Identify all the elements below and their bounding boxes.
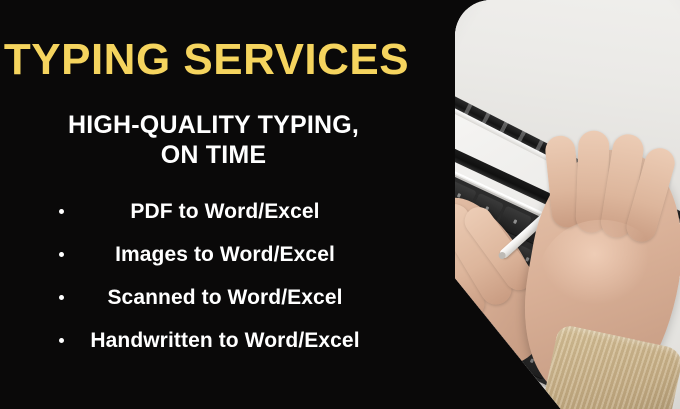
text-panel: TYPING SERVICES HIGH-QUALITY TYPING, ON … — [0, 0, 455, 409]
bullet-dot-icon — [59, 295, 64, 300]
service-label: Scanned to Word/Excel — [0, 276, 450, 319]
laptop-typing-photo — [455, 0, 680, 409]
list-item: Images to Word/Excel — [0, 233, 455, 276]
list-item: PDF to Word/Excel — [0, 190, 455, 233]
typing-services-banner: TYPING SERVICES HIGH-QUALITY TYPING, ON … — [0, 0, 680, 409]
list-item: Handwritten to Word/Excel — [0, 319, 455, 362]
bullet-dot-icon — [59, 338, 64, 343]
bullet-dot-icon — [59, 209, 64, 214]
service-label: Images to Word/Excel — [0, 233, 450, 276]
bullet-dot-icon — [59, 252, 64, 257]
subtitle-line-2: ON TIME — [0, 141, 427, 171]
page-title: TYPING SERVICES — [0, 38, 413, 82]
service-label: Handwritten to Word/Excel — [0, 319, 450, 362]
subtitle: HIGH-QUALITY TYPING, ON TIME — [0, 111, 427, 170]
service-label: PDF to Word/Excel — [0, 190, 450, 233]
list-item: Scanned to Word/Excel — [0, 276, 455, 319]
subtitle-line-1: HIGH-QUALITY TYPING, — [0, 111, 427, 141]
services-list: PDF to Word/Excel Images to Word/Excel S… — [0, 190, 455, 362]
photo-scene — [455, 0, 680, 409]
